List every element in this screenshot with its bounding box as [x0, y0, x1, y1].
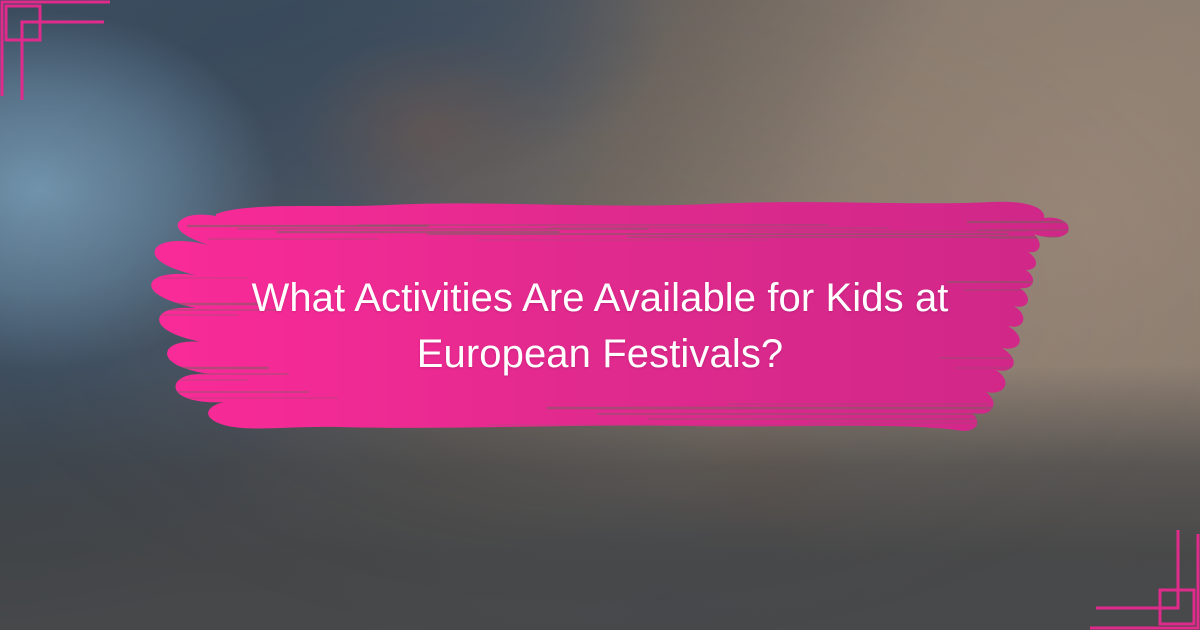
- corner-frame-bottom-right-icon: [1050, 490, 1200, 630]
- corner-frame-top-left-icon: [0, 0, 150, 140]
- corner-frame-bottom-right: [1050, 490, 1200, 630]
- corner-frame-top-left: [0, 0, 150, 140]
- page-title: What Activities Are Available for Kids a…: [175, 270, 1025, 382]
- social-card: What Activities Are Available for Kids a…: [0, 0, 1200, 630]
